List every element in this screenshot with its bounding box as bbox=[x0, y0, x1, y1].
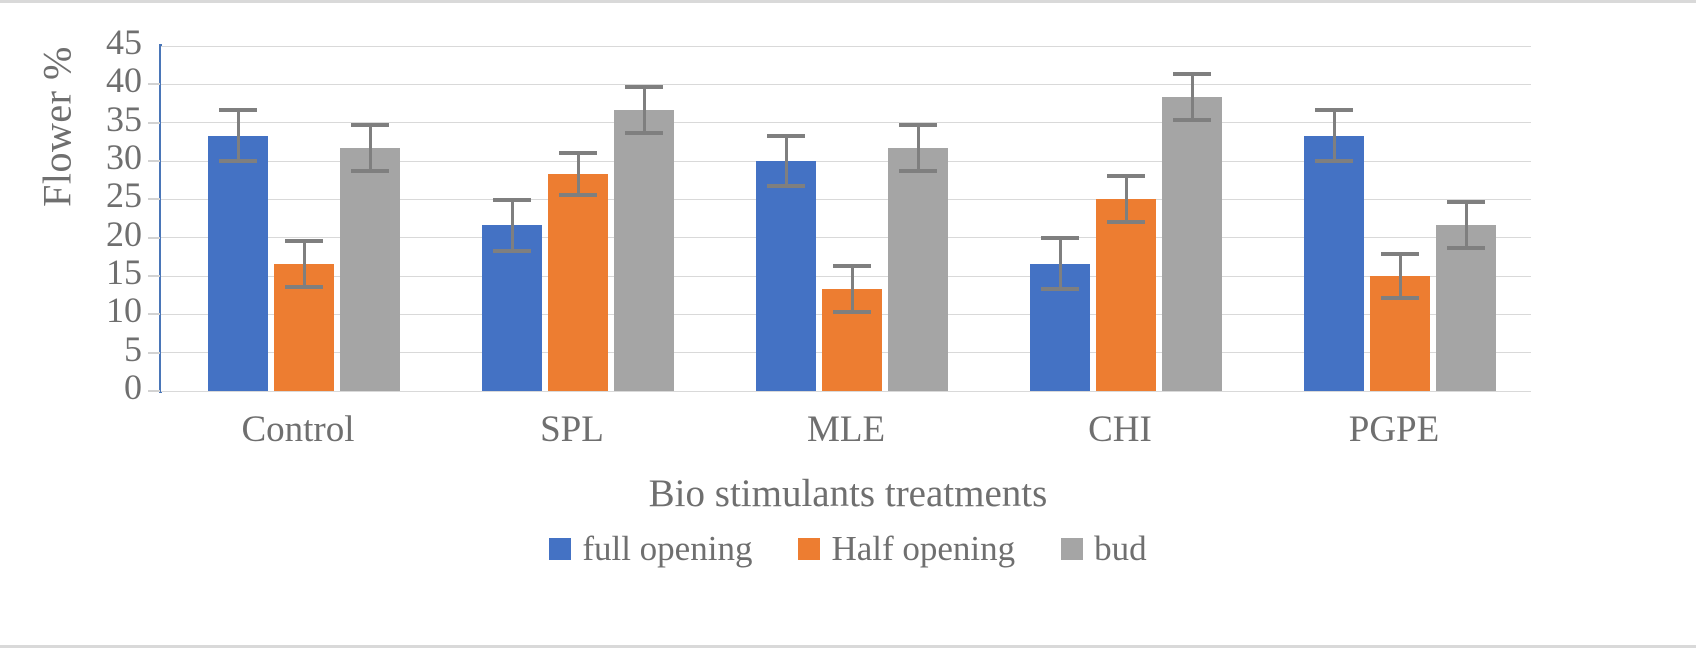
x-tick-label-chi: CHI bbox=[970, 408, 1270, 451]
legend-label: bud bbox=[1094, 531, 1147, 566]
y-tick-mark-0 bbox=[148, 390, 160, 392]
error-bar-cap-bottom bbox=[559, 193, 597, 197]
error-bar-cap-bottom bbox=[219, 159, 257, 163]
x-axis-title: Bio stimulants treatments bbox=[0, 471, 1696, 516]
error-bar-cap-bottom bbox=[899, 169, 937, 173]
legend-item-bud[interactable]: bud bbox=[1061, 531, 1147, 566]
bar-group-chi bbox=[983, 46, 1257, 391]
x-tick-label-mle: MLE bbox=[696, 408, 996, 451]
error-bar-stem bbox=[237, 110, 240, 161]
error-bar-cap-top bbox=[219, 108, 257, 112]
bar-mle-full-opening bbox=[756, 161, 816, 391]
y-tick-mark-10 bbox=[148, 313, 160, 315]
error-bar-cap-top bbox=[899, 123, 937, 127]
error-bar-cap-bottom bbox=[493, 249, 531, 253]
error-bar-cap-bottom bbox=[1107, 220, 1145, 224]
y-tick-label-15: 15 bbox=[22, 254, 142, 290]
bar-pgpe-full-opening bbox=[1304, 136, 1364, 391]
error-bar-stem bbox=[1399, 254, 1402, 298]
error-bar-stem bbox=[1333, 110, 1336, 161]
legend-item-half-opening[interactable]: Half opening bbox=[798, 531, 1015, 566]
bar-spl-bud bbox=[614, 110, 674, 391]
error-bar-cap-top bbox=[285, 239, 323, 243]
y-tick-label-0: 0 bbox=[22, 369, 142, 405]
error-bar-stem bbox=[917, 125, 920, 171]
bar-chi-bud bbox=[1162, 97, 1222, 391]
y-tick-label-5: 5 bbox=[22, 331, 142, 367]
error-bar-cap-top bbox=[1173, 72, 1211, 76]
error-bar-stem bbox=[785, 136, 788, 187]
legend-label: full opening bbox=[582, 531, 752, 566]
y-tick-label-35: 35 bbox=[22, 101, 142, 137]
error-bar-cap-top bbox=[833, 264, 871, 268]
y-tick-label-25: 25 bbox=[22, 177, 142, 213]
error-bar-cap-top bbox=[1447, 200, 1485, 204]
error-bar-stem bbox=[643, 87, 646, 133]
x-tick-label-pgpe: PGPE bbox=[1244, 408, 1544, 451]
legend-swatch-icon bbox=[1061, 538, 1083, 560]
chart-legend: full openingHalf openingbud bbox=[0, 531, 1696, 566]
error-bar-cap-bottom bbox=[1447, 246, 1485, 250]
y-tick-mark-30 bbox=[148, 160, 160, 162]
x-tick-label-control: Control bbox=[148, 408, 448, 451]
error-bar-cap-bottom bbox=[767, 184, 805, 188]
y-tick-mark-25 bbox=[148, 198, 160, 200]
bar-chi-half-opening bbox=[1096, 199, 1156, 391]
error-bar-stem bbox=[851, 266, 854, 312]
bar-group-pgpe bbox=[1257, 46, 1531, 391]
bar-group-mle bbox=[709, 46, 983, 391]
y-tick-label-20: 20 bbox=[22, 216, 142, 252]
bar-chart: Flower % 454035302520151050 ControlSPLML… bbox=[0, 0, 1696, 648]
y-tick-mark-35 bbox=[148, 122, 160, 124]
y-tick-mark-40 bbox=[148, 83, 160, 85]
error-bar-cap-bottom bbox=[625, 131, 663, 135]
error-bar-stem bbox=[577, 153, 580, 194]
bar-control-bud bbox=[340, 148, 400, 391]
y-tick-label-10: 10 bbox=[22, 292, 142, 328]
bar-mle-bud bbox=[888, 148, 948, 391]
error-bar-cap-bottom bbox=[1381, 296, 1419, 300]
y-tick-mark-5 bbox=[148, 352, 160, 354]
error-bar-cap-top bbox=[351, 123, 389, 127]
y-tick-mark-20 bbox=[148, 237, 160, 239]
error-bar-cap-top bbox=[767, 134, 805, 138]
legend-swatch-icon bbox=[798, 538, 820, 560]
error-bar-cap-top bbox=[1315, 108, 1353, 112]
error-bar-cap-top bbox=[559, 151, 597, 155]
legend-label: Half opening bbox=[831, 531, 1015, 566]
error-bar-cap-bottom bbox=[1173, 118, 1211, 122]
error-bar-stem bbox=[303, 241, 306, 287]
error-bar-cap-bottom bbox=[285, 285, 323, 289]
error-bar-cap-top bbox=[1381, 252, 1419, 256]
bar-spl-half-opening bbox=[548, 174, 608, 391]
error-bar-cap-top bbox=[1041, 236, 1079, 240]
y-tick-label-40: 40 bbox=[22, 62, 142, 98]
error-bar-stem bbox=[1191, 74, 1194, 120]
x-tick-label-spl: SPL bbox=[422, 408, 722, 451]
y-tick-label-30: 30 bbox=[22, 139, 142, 175]
bar-group-control bbox=[161, 46, 435, 391]
y-tick-mark-15 bbox=[148, 275, 160, 277]
error-bar-cap-bottom bbox=[1315, 159, 1353, 163]
plot-area bbox=[161, 46, 1531, 391]
error-bar-cap-bottom bbox=[351, 169, 389, 173]
bar-group-spl bbox=[435, 46, 709, 391]
error-bar-stem bbox=[369, 125, 372, 171]
legend-item-full-opening[interactable]: full opening bbox=[549, 531, 752, 566]
error-bar-cap-bottom bbox=[833, 310, 871, 314]
error-bar-stem bbox=[1059, 238, 1062, 289]
y-tick-label-45: 45 bbox=[22, 24, 142, 60]
error-bar-cap-top bbox=[625, 85, 663, 89]
error-bar-cap-top bbox=[493, 198, 531, 202]
error-bar-cap-top bbox=[1107, 174, 1145, 178]
error-bar-stem bbox=[1125, 176, 1128, 222]
bar-control-full-opening bbox=[208, 136, 268, 391]
legend-swatch-icon bbox=[549, 538, 571, 560]
error-bar-stem bbox=[511, 200, 514, 251]
error-bar-stem bbox=[1465, 202, 1468, 248]
error-bar-cap-bottom bbox=[1041, 287, 1079, 291]
